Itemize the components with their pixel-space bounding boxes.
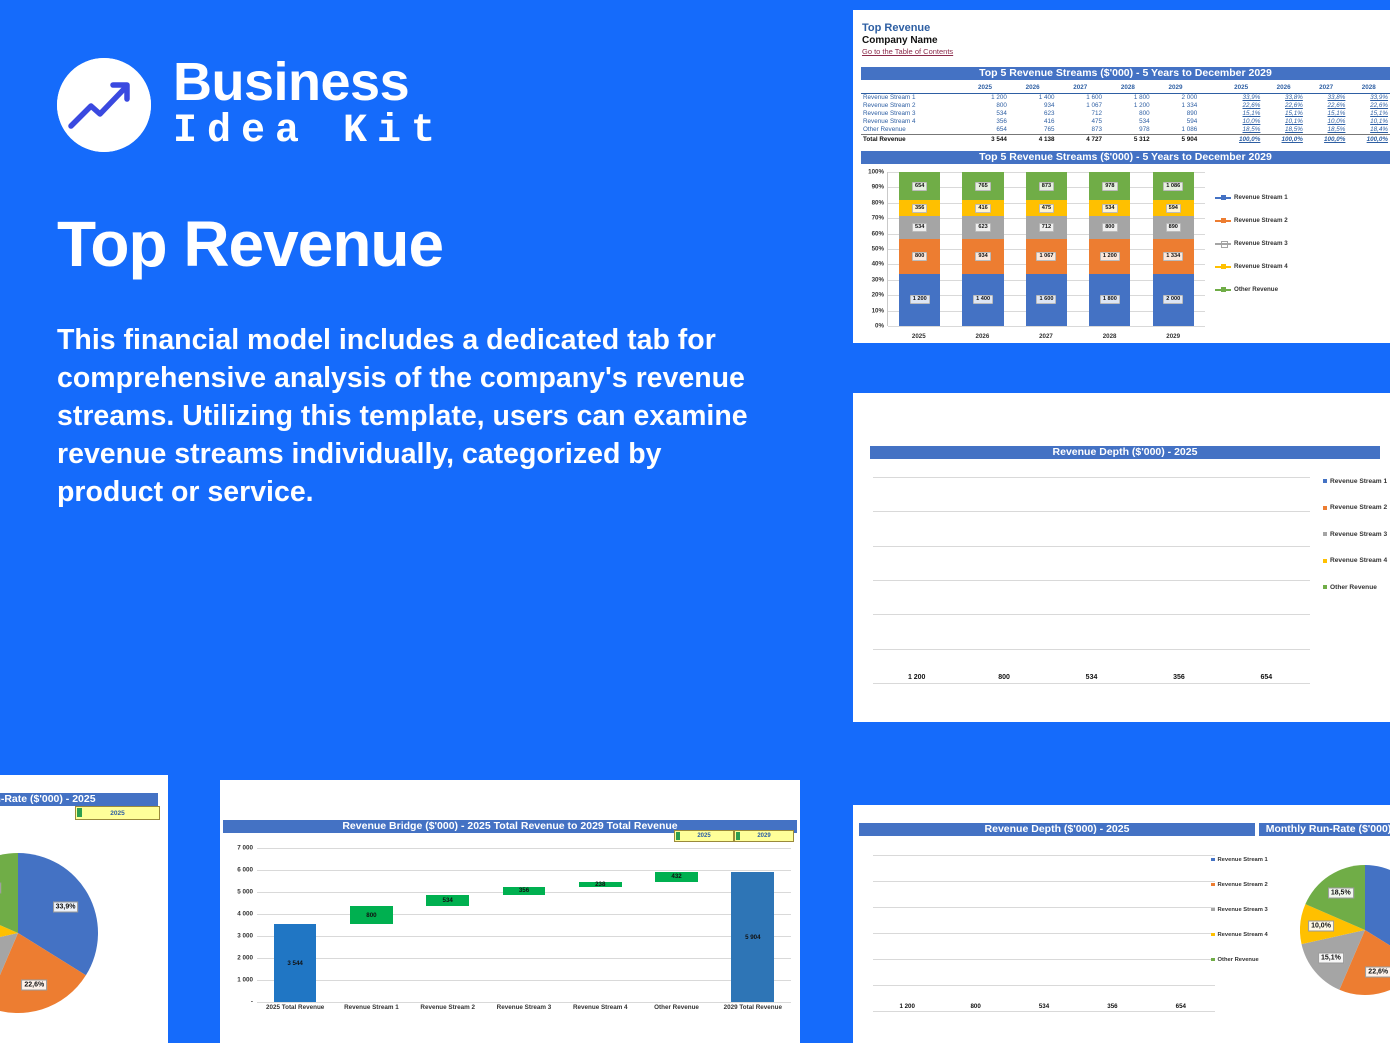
- stacked-column: 7654166239341 400: [962, 172, 1003, 326]
- segment-value-label: 594: [1166, 204, 1181, 213]
- y-tick-label: 90%: [872, 184, 887, 191]
- y-tick-label: 70%: [872, 215, 887, 222]
- x-tick-label: 2029: [1153, 333, 1194, 340]
- bar-value-label: 654: [1260, 674, 1272, 681]
- col-year: 2029: [1152, 84, 1200, 94]
- y-tick-label: 3 000: [237, 933, 257, 940]
- stack-segment: 356: [899, 200, 940, 215]
- br-run-rate-pie: 33,9%22,6%15,1%10,0%18,5%: [1300, 865, 1390, 995]
- worksheet-header: Top Revenue Company Name Go to the Table…: [862, 22, 953, 57]
- legend-item: Other Revenue: [1215, 278, 1287, 301]
- col-year-pct: 2027: [1305, 84, 1348, 94]
- legend-marker-icon: [1215, 289, 1231, 291]
- x-tick-label: Revenue Stream 3: [486, 1004, 562, 1020]
- segment-value-label: 534: [1102, 204, 1117, 213]
- legend-label: Revenue Stream 4: [1330, 557, 1387, 564]
- legend-label: Other Revenue: [1218, 957, 1259, 963]
- legend-item: Other Revenue: [1323, 574, 1390, 601]
- col-year-pct: 2028: [1347, 84, 1390, 94]
- legend-swatch-icon: [1323, 532, 1327, 536]
- bar-value-label: 3 544: [287, 960, 302, 967]
- bar-value-label: 654: [1176, 1003, 1186, 1010]
- legend-label: Revenue Stream 3: [1218, 907, 1268, 913]
- year-spinner-value: 2025: [110, 810, 124, 817]
- legend-marker-icon: [1215, 220, 1231, 222]
- waterfall-delta-bar: 432: [655, 872, 698, 882]
- legend-swatch-icon: [1211, 958, 1215, 962]
- revenue-depth-panel: Revenue Depth ($'000) - 2025 1 200800534…: [853, 393, 1390, 722]
- segment-value-label: 712: [1039, 223, 1054, 232]
- stack-segment: 1 600: [1026, 274, 1067, 326]
- pie-slice-label: 33,9%: [53, 901, 79, 912]
- revenue-bridge-panel: Revenue Bridge ($'000) - 2025 Total Reve…: [220, 780, 800, 1043]
- stack-segment: 534: [1089, 200, 1130, 215]
- bar-value-label: 800: [366, 912, 376, 919]
- pie-slice-label: 15,1%: [1318, 953, 1344, 964]
- legend-label: Revenue Stream 2: [1234, 217, 1288, 224]
- legend-label: Revenue Stream 4: [1234, 263, 1288, 270]
- segment-value-label: 1 200: [910, 295, 930, 304]
- table-row: Revenue Stream 4 356 416 475 534 594 10,…: [861, 118, 1390, 126]
- waterfall-column: 534: [410, 848, 486, 1002]
- bar-value-label: 800: [998, 674, 1010, 681]
- legend-item: Revenue Stream 4: [1215, 255, 1287, 278]
- revenue-depth-bars: 1 200800534356654: [873, 477, 1310, 683]
- y-tick-label: 60%: [872, 230, 887, 237]
- stacked-bar-chart: 6543565348001 2007654166239341 400873475…: [861, 168, 1209, 343]
- x-tick-label: Other Revenue: [638, 1004, 714, 1020]
- segment-value-label: 765: [975, 182, 990, 191]
- legend-swatch-icon: [1211, 858, 1215, 862]
- segment-value-label: 475: [1039, 204, 1054, 213]
- revenue-bridge-bars: 3 5448005343562384325 904: [257, 848, 791, 1002]
- legend-marker-icon: [1215, 243, 1231, 245]
- pie-slice-label: 18,5%: [0, 882, 1, 893]
- revenue-streams-table: 2025 2026 2027 2028 2029 2025 2026 2027 …: [861, 84, 1390, 144]
- brand-name-primary: Business: [173, 55, 445, 109]
- worksheet-company: Company Name: [862, 35, 953, 47]
- bar-value-label: 1 200: [908, 674, 926, 681]
- x-tick-label: 2028: [1089, 333, 1130, 340]
- br-depth-bars: 1 200800534356654: [873, 855, 1215, 1011]
- stack-segment: 1 200: [899, 274, 940, 326]
- bar-value-label: 534: [1039, 1003, 1049, 1010]
- page-description: This financial model includes a dedicate…: [57, 322, 757, 511]
- y-tick-label: 40%: [872, 261, 887, 268]
- x-tick-label: Revenue Stream 4: [562, 1004, 638, 1020]
- table-of-contents-link[interactable]: Go to the Table of Contents: [862, 47, 953, 57]
- stack-segment: 623: [962, 216, 1003, 239]
- x-tick-label: Revenue Stream 2: [410, 1004, 486, 1020]
- stack-segment: 712: [1026, 216, 1067, 239]
- legend-item: Revenue Stream 1: [1211, 847, 1281, 872]
- legend-label: Revenue Stream 4: [1218, 932, 1268, 938]
- stack-segment: 934: [962, 239, 1003, 274]
- run-rate-title-left: Run-Rate ($'000) - 2025: [0, 793, 158, 806]
- segment-value-label: 1 600: [1036, 295, 1056, 304]
- y-tick-label: 50%: [872, 246, 887, 253]
- legend-label: Revenue Stream 1: [1218, 857, 1268, 863]
- x-tick-label: 2025 Total Revenue: [257, 1004, 333, 1020]
- brand-logo: Business Idea Kit: [57, 55, 445, 155]
- segment-value-label: 934: [975, 252, 990, 261]
- bar-value-label: 356: [519, 887, 529, 894]
- bar-value-label: 534: [443, 897, 453, 904]
- stack-segment: 800: [1089, 216, 1130, 239]
- y-tick-label: 2 000: [237, 955, 257, 962]
- legend-label: Revenue Stream 2: [1218, 882, 1268, 888]
- waterfall-column: 356: [486, 848, 562, 1002]
- bar-value-label: 534: [1086, 674, 1098, 681]
- year-spinner-left[interactable]: 2025: [75, 806, 160, 820]
- pie-slice-label: 22,6%: [21, 979, 47, 990]
- pie-slice-label: 10,0%: [1308, 920, 1334, 931]
- legend-swatch-icon: [1211, 933, 1215, 937]
- legend-swatch-icon: [1323, 479, 1327, 483]
- y-tick-label: 5 000: [237, 889, 257, 896]
- segment-value-label: 1 200: [1100, 252, 1120, 261]
- gridline: [873, 683, 1310, 684]
- bar-value-label: 238: [595, 881, 605, 888]
- bar-value-label: 1 200: [899, 1003, 914, 1010]
- pie-slice-label: 18,5%: [1328, 888, 1354, 899]
- table-row: Other Revenue 654 765 873 978 1 086 18,5…: [861, 126, 1390, 135]
- revenue-depth-chart: 1 200800534356654: [870, 463, 1310, 685]
- y-tick-label: 6 000: [237, 867, 257, 874]
- y-tick-label: 100%: [868, 169, 887, 176]
- y-tick-label: 30%: [872, 276, 887, 283]
- stack-segment: 1 400: [962, 274, 1003, 326]
- br-depth-legend: Revenue Stream 1Revenue Stream 2Revenue …: [1211, 847, 1281, 972]
- segment-value-label: 534: [912, 223, 927, 232]
- revenue-depth-legend: Revenue Stream 1Revenue Stream 2Revenue …: [1323, 468, 1390, 601]
- br-revenue-depth-chart: 1 200800534356654: [859, 841, 1215, 1015]
- col-year: 2028: [1104, 84, 1152, 94]
- waterfall-delta-bar: 238: [579, 882, 622, 887]
- segment-value-label: 1 067: [1036, 252, 1056, 261]
- run-rate-pie-left: 33,9%22,6%15,1%10,0%18,5%: [0, 853, 98, 1013]
- revenue-bridge-chart: 3 5448005343562384325 904 -1 0002 0003 0…: [223, 838, 797, 1028]
- stack-segment: 800: [899, 239, 940, 274]
- legend-label: Revenue Stream 3: [1330, 531, 1387, 538]
- stack-segment: 534: [899, 216, 940, 239]
- stacked-column: 8734757121 0671 600: [1026, 172, 1067, 326]
- run-rate-pie-panel-left: Run-Rate ($'000) - 2025 2025 33,9%22,6%1…: [0, 775, 168, 1043]
- legend-label: Revenue Stream 3: [1234, 240, 1288, 247]
- br-runrate-title: Monthly Run-Rate ($'000): [1259, 823, 1390, 836]
- page-title: Top Revenue: [57, 212, 443, 276]
- segment-value-label: 2 000: [1163, 295, 1183, 304]
- stack-segment: 1 800: [1089, 274, 1130, 326]
- segment-value-label: 1 400: [973, 295, 993, 304]
- legend-label: Revenue Stream 2: [1330, 504, 1387, 511]
- stack-segment: 890: [1153, 216, 1194, 239]
- waterfall-total-bar: 3 544: [274, 924, 317, 1002]
- revenue-bridge-plot: 3 5448005343562384325 904: [257, 848, 791, 1002]
- table-row: Revenue Stream 1 1 200 1 400 1 600 1 800…: [861, 94, 1390, 103]
- bar-value-label: 5 904: [745, 934, 760, 941]
- worksheet-panel: Top Revenue Company Name Go to the Table…: [853, 10, 1390, 343]
- waterfall-delta-bar: 356: [503, 887, 546, 895]
- stack-segment: 978: [1089, 172, 1130, 200]
- x-tick-label: 2025: [898, 333, 939, 340]
- y-tick-label: 80%: [872, 199, 887, 206]
- stack-segment: 1 200: [1089, 239, 1130, 274]
- stack-segment: 1 086: [1153, 172, 1194, 200]
- legend-label: Other Revenue: [1234, 286, 1278, 293]
- bar-value-label: 800: [970, 1003, 980, 1010]
- segment-value-label: 873: [1039, 182, 1054, 191]
- table-row: Revenue Stream 2 800 934 1 067 1 200 1 3…: [861, 102, 1390, 110]
- stacked-bar-plot: 6543565348001 2007654166239341 400873475…: [887, 172, 1205, 326]
- legend-swatch-icon: [1323, 559, 1327, 563]
- gridline: [888, 326, 1205, 327]
- legend-item: Revenue Stream 4: [1323, 548, 1390, 575]
- stacked-column: 9785348001 2001 800: [1089, 172, 1130, 326]
- legend-item: Other Revenue: [1211, 947, 1281, 972]
- segment-value-label: 800: [912, 252, 927, 261]
- col-year-pct: 2025: [1220, 84, 1263, 94]
- stack-segment: 654: [899, 172, 940, 200]
- revenue-depth-title: Revenue Depth ($'000) - 2025: [870, 446, 1380, 459]
- revenue-depth-plot: 1 200800534356654: [873, 477, 1310, 683]
- bar-value-label: 356: [1107, 1003, 1117, 1010]
- legend-label: Revenue Stream 1: [1330, 478, 1387, 485]
- y-tick-label: 4 000: [237, 911, 257, 918]
- col-year-pct: 2026: [1262, 84, 1305, 94]
- legend-swatch-icon: [1323, 585, 1327, 589]
- bar-value-label: 356: [1173, 674, 1185, 681]
- y-tick-label: 20%: [872, 292, 887, 299]
- waterfall-column: 3 544: [257, 848, 333, 1002]
- waterfall-column: 5 904: [715, 848, 791, 1002]
- legend-label: Other Revenue: [1330, 584, 1377, 591]
- stack-segment: 1 067: [1026, 239, 1067, 274]
- stack-segment: 416: [962, 200, 1003, 215]
- segment-value-label: 356: [912, 204, 927, 213]
- gridline: [257, 1002, 791, 1003]
- x-tick-label: 2027: [1025, 333, 1066, 340]
- brand-name-secondary: Idea Kit: [173, 109, 445, 155]
- segment-value-label: 623: [975, 223, 990, 232]
- waterfall-delta-bar: 534: [426, 895, 469, 907]
- legend-item: Revenue Stream 1: [1215, 186, 1287, 209]
- legend-swatch-icon: [1211, 908, 1215, 912]
- segment-value-label: 978: [1102, 182, 1117, 191]
- segment-value-label: 800: [1102, 223, 1117, 232]
- stack-segment: 1 334: [1153, 239, 1194, 274]
- gridline: [873, 1011, 1215, 1012]
- legend-swatch-icon: [1323, 506, 1327, 510]
- bar-value-label: 432: [671, 873, 681, 880]
- pie-slice-label: 22,6%: [1365, 967, 1390, 978]
- stack-segment: 475: [1026, 200, 1067, 215]
- segment-value-label: 1 800: [1100, 295, 1120, 304]
- segment-value-label: 1 334: [1163, 252, 1183, 261]
- legend-item: Revenue Stream 4: [1211, 922, 1281, 947]
- col-year: 2027: [1056, 84, 1104, 94]
- revenue-table-header: Top 5 Revenue Streams ($'000) - 5 Years …: [861, 67, 1390, 80]
- y-tick-label: 1 000: [237, 977, 257, 984]
- legend-swatch-icon: [1211, 883, 1215, 887]
- y-tick-label: 10%: [872, 307, 887, 314]
- legend-item: Revenue Stream 3: [1215, 232, 1287, 255]
- rising-arrow-chart-icon: [57, 58, 151, 152]
- y-tick-label: 0%: [875, 323, 887, 330]
- x-tick-label: 2026: [962, 333, 1003, 340]
- waterfall-column: 238: [562, 848, 638, 1002]
- x-tick-label: 2029 Total Revenue: [715, 1004, 791, 1020]
- br-depth-title: Revenue Depth ($'000) - 2025: [859, 823, 1255, 836]
- stacked-bar-columns: 6543565348001 2007654166239341 400873475…: [888, 172, 1205, 326]
- legend-item: Revenue Stream 3: [1211, 897, 1281, 922]
- table-total-row: Total Revenue 3 544 4 138 4 727 5 312 5 …: [861, 135, 1390, 145]
- segment-value-label: 890: [1166, 223, 1181, 232]
- table-header-row: 2025 2026 2027 2028 2029 2025 2026 2027 …: [861, 84, 1390, 94]
- segment-value-label: 416: [975, 204, 990, 213]
- legend-item: Revenue Stream 2: [1323, 495, 1390, 522]
- stacked-column: 1 0865948901 3342 000: [1153, 172, 1194, 326]
- waterfall-column: 432: [638, 848, 714, 1002]
- x-tick-label: Revenue Stream 1: [333, 1004, 409, 1020]
- legend-item: Revenue Stream 1: [1323, 468, 1390, 495]
- worksheet-title: Top Revenue: [862, 22, 953, 35]
- bridge-x-axis: 2025 Total RevenueRevenue Stream 1Revenu…: [257, 1004, 791, 1020]
- stacked-chart-legend: Revenue Stream 1Revenue Stream 2Revenue …: [1215, 186, 1287, 301]
- stack-segment: 873: [1026, 172, 1067, 200]
- waterfall-column: 800: [333, 848, 409, 1002]
- stack-segment: 2 000: [1153, 274, 1194, 326]
- pie-slice: [0, 853, 18, 933]
- legend-label: Revenue Stream 1: [1234, 194, 1288, 201]
- y-tick-label: 7 000: [237, 845, 257, 852]
- stack-segment: 765: [962, 172, 1003, 200]
- legend-item: Revenue Stream 2: [1215, 209, 1287, 232]
- stack-segment: 594: [1153, 200, 1194, 215]
- table-row: Revenue Stream 3 534 623 712 800 890 15,…: [861, 110, 1390, 118]
- stacked-column: 6543565348001 200: [899, 172, 940, 326]
- revenue-chart-header: Top 5 Revenue Streams ($'000) - 5 Years …: [861, 151, 1390, 164]
- stacked-x-axis: 20252026202720282029: [887, 328, 1205, 343]
- legend-item: Revenue Stream 3: [1323, 521, 1390, 548]
- legend-item: Revenue Stream 2: [1211, 872, 1281, 897]
- col-year: 2026: [1009, 84, 1057, 94]
- col-year: 2025: [961, 84, 1009, 94]
- br-depth-plot: 1 200800534356654: [873, 855, 1215, 1011]
- segment-value-label: 1 086: [1163, 182, 1183, 191]
- legend-marker-icon: [1215, 266, 1231, 268]
- waterfall-delta-bar: 800: [350, 906, 393, 924]
- legend-marker-icon: [1215, 197, 1231, 199]
- pie-svg: [0, 853, 98, 1013]
- waterfall-total-bar: 5 904: [731, 872, 774, 1002]
- segment-value-label: 654: [912, 182, 927, 191]
